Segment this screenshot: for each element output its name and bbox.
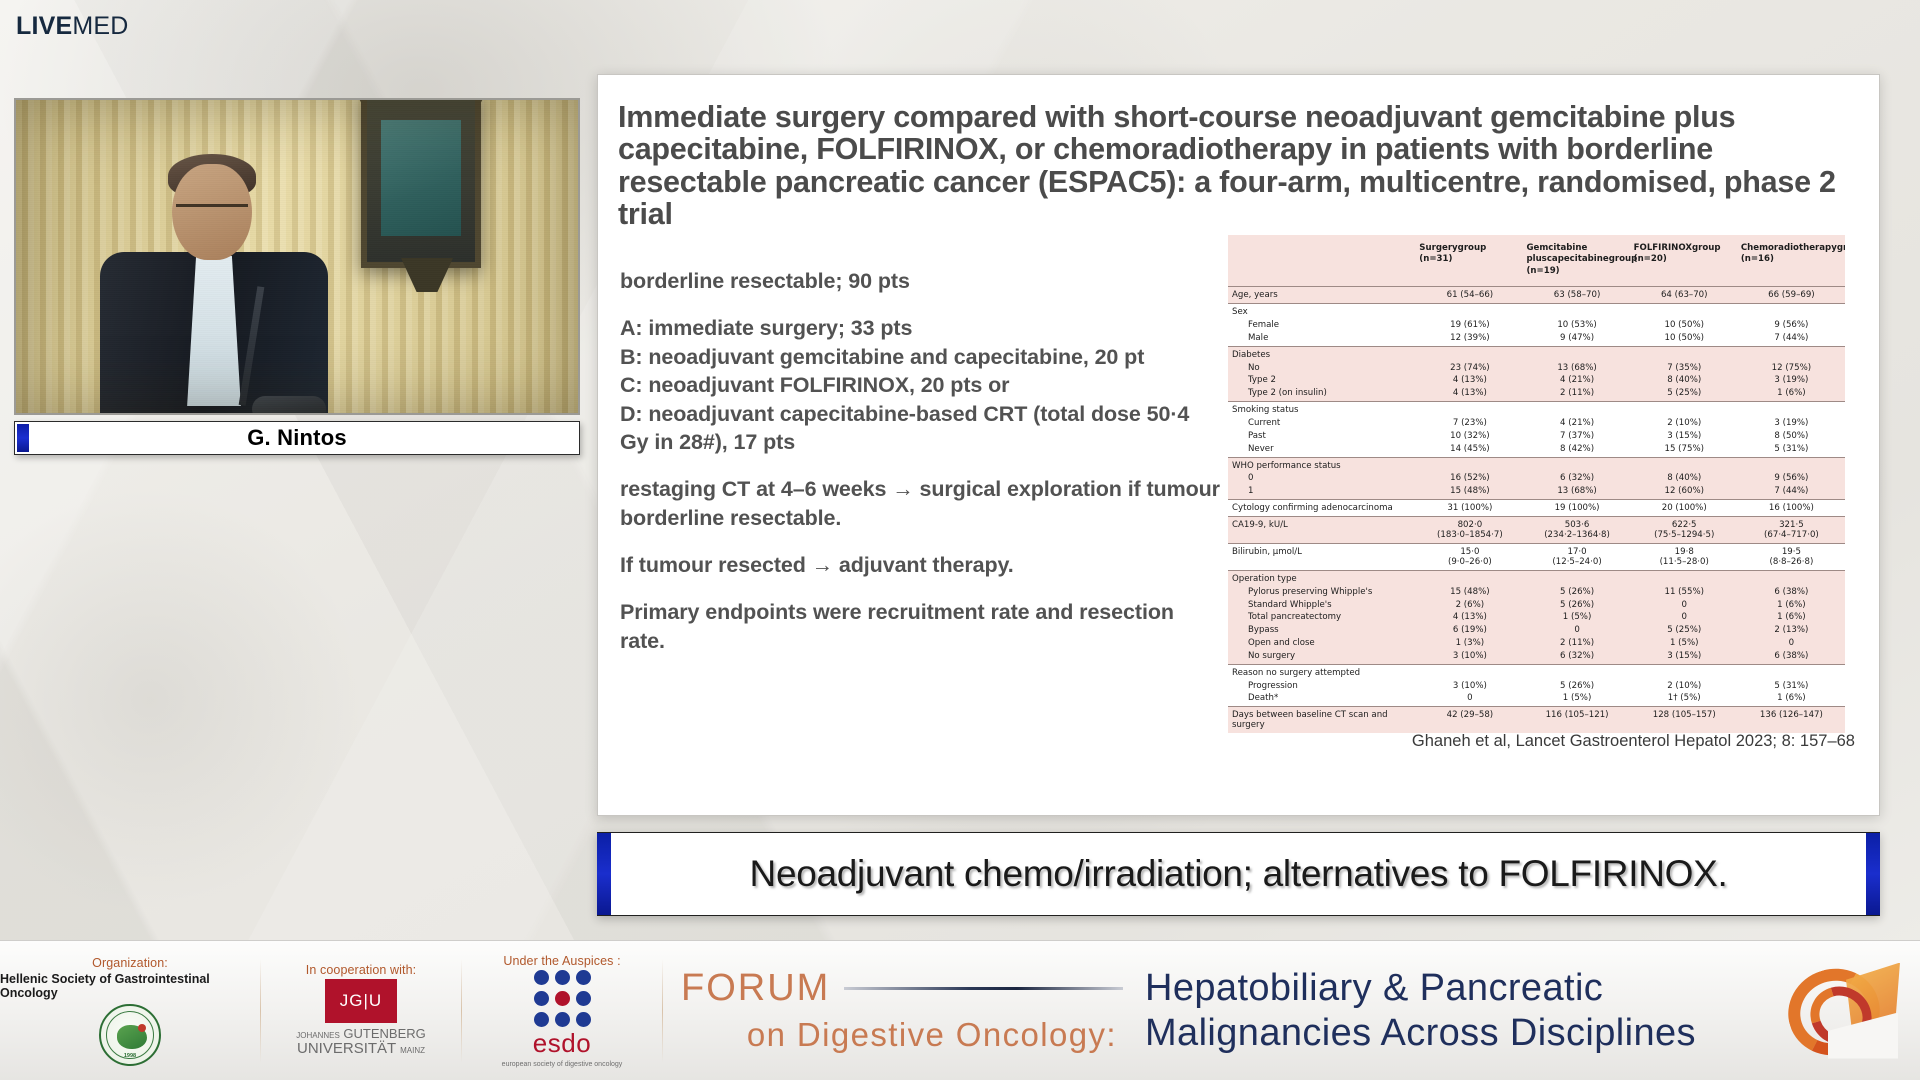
table-cell-col-2: 1 (5%)	[1523, 611, 1630, 624]
table-body: Age, years61 (54–66)63 (58–70)64 (63–70)…	[1228, 287, 1845, 734]
table-cell-col-2	[1523, 571, 1630, 586]
slide-panel: Immediate surgery compared with short-co…	[597, 74, 1880, 816]
table-row-label: Type 2 (on insulin)	[1228, 387, 1416, 402]
table-cell-col-1: 15 (48%)	[1416, 485, 1523, 500]
table-row-label: Pylorus preserving Whipple's	[1228, 585, 1416, 598]
table-cell-col-3: 0	[1631, 611, 1738, 624]
table-cell-col-4: 19·5(8·8–26·8)	[1738, 544, 1845, 571]
table-row-label: Never	[1228, 442, 1416, 457]
table-cell-col-3: 20 (100%)	[1631, 500, 1738, 517]
table-cell-col-1: 14 (45%)	[1416, 442, 1523, 457]
table-cell-col-2: 5 (26%)	[1523, 598, 1630, 611]
forum-wordmark: FORUM	[681, 967, 830, 1010]
table-cell-col-4: 1 (6%)	[1738, 387, 1845, 402]
table-cell-col-3: 622·5(75·5–1294·5)	[1631, 517, 1738, 544]
forum-swirl-icon	[1770, 941, 1920, 1080]
table-cell-col-4	[1738, 346, 1845, 361]
table-row: 016 (52%)6 (32%)8 (40%)9 (56%)	[1228, 472, 1845, 485]
table-header-row: Surgerygroup (n=31)Gemcitabine pluscapec…	[1228, 235, 1845, 287]
table-cell-col-2: 5 (26%)	[1523, 679, 1630, 692]
esdo-dot	[555, 970, 570, 985]
esdo-wordmark: esdo	[533, 1030, 591, 1056]
table-cell-col-3: 3 (15%)	[1631, 429, 1738, 442]
table-cell-col-1: 42 (29–58)	[1416, 707, 1523, 734]
table-header-col-1: Surgerygroup (n=31)	[1416, 235, 1523, 287]
table-cell-col-3: 12 (60%)	[1631, 485, 1738, 500]
table-cell-col-1: 16 (52%)	[1416, 472, 1523, 485]
speaker-video-feed[interactable]	[14, 98, 580, 415]
table-cell-col-4: 1 (6%)	[1738, 692, 1845, 707]
table-cell-col-4: 3 (19%)	[1738, 374, 1845, 387]
table-row-label: Age, years	[1228, 287, 1416, 304]
caption-text: Neoadjuvant chemo/irradiation; alternati…	[750, 853, 1728, 895]
table-cell-col-4: 16 (100%)	[1738, 500, 1845, 517]
table-cell-col-1: 4 (13%)	[1416, 611, 1523, 624]
table-cell-col-4: 6 (38%)	[1738, 649, 1845, 664]
slide-paragraph-2: A: immediate surgery; 33 ptsB: neoadjuva…	[620, 314, 1220, 456]
table-cell-col-3: 8 (40%)	[1631, 472, 1738, 485]
table-row: Sex	[1228, 304, 1845, 319]
esdo-dot	[576, 1012, 591, 1027]
slide-body-text: borderline resectable; 90 ptsA: immediat…	[620, 267, 1220, 655]
table-cell-col-1: 2 (6%)	[1416, 598, 1523, 611]
table-cell-col-3	[1631, 346, 1738, 361]
esdo-dot	[555, 1012, 570, 1027]
table-cell-col-4: 9 (56%)	[1738, 472, 1845, 485]
table-row-label: Standard Whipple's	[1228, 598, 1416, 611]
table-row: Days between baseline CT scan and surger…	[1228, 707, 1845, 734]
table-row-label: Operation type	[1228, 571, 1416, 586]
table-row-label: Reason no surgery attempted	[1228, 664, 1416, 679]
table-cell-col-1: 31 (100%)	[1416, 500, 1523, 517]
table-row: Progression3 (10%)5 (26%)2 (10%)5 (31%)	[1228, 679, 1845, 692]
footer-event-title: Hepatobiliary & Pancreatic Malignancies …	[1123, 966, 1770, 1056]
table-cell-col-3: 15 (75%)	[1631, 442, 1738, 457]
esdo-dot	[534, 970, 549, 985]
table-cell-col-2: 4 (21%)	[1523, 374, 1630, 387]
forum-line-1: FORUM	[681, 967, 1123, 1010]
table-row: Type 24 (13%)4 (21%)8 (40%)3 (19%)	[1228, 374, 1845, 387]
esdo-dot-accent	[555, 991, 570, 1006]
livemed-logo: LIVEMED	[16, 14, 129, 39]
jgu-university-name: JOHANNES GUTENBERG UNIVERSITÄT MAINZ	[296, 1027, 426, 1057]
caption-banner: Neoadjuvant chemo/irradiation; alternati…	[597, 832, 1880, 916]
table-cell-col-2: 9 (47%)	[1523, 331, 1630, 346]
seal-dot-icon	[138, 1024, 146, 1032]
jgu-line-1: JOHANNES GUTENBERG	[296, 1027, 426, 1041]
table-cell-col-2: 13 (68%)	[1523, 361, 1630, 374]
table-cell-col-1: 3 (10%)	[1416, 649, 1523, 664]
esdo-tagline: european society of digestive oncology	[502, 1061, 623, 1068]
table-row: Bilirubin, µmol/L15·0(9·0–26·0)17·0(12·5…	[1228, 544, 1845, 571]
jgu-johannes: JOHANNES	[296, 1031, 340, 1040]
table-header-col-2: Gemcitabine pluscapecitabinegroup (n=19)	[1523, 235, 1630, 287]
table-row: Current7 (23%)4 (21%)2 (10%)3 (19%)	[1228, 417, 1845, 430]
table-cell-col-2: 116 (105–121)	[1523, 707, 1630, 734]
table-cell-col-2: 7 (37%)	[1523, 429, 1630, 442]
table-row: Never14 (45%)8 (42%)15 (75%)5 (31%)	[1228, 442, 1845, 457]
table-cell-col-2: 63 (58–70)	[1523, 287, 1630, 304]
table-cell-col-2: 6 (32%)	[1523, 649, 1630, 664]
table-cell-col-4: 5 (31%)	[1738, 442, 1845, 457]
table-cell-col-1: 4 (13%)	[1416, 387, 1523, 402]
forum-rule	[844, 987, 1123, 990]
table-cell-col-1: 12 (39%)	[1416, 331, 1523, 346]
table-row-label: Current	[1228, 417, 1416, 430]
auspices-caption: Under the Auspices :	[503, 954, 620, 968]
table-row-label: 0	[1228, 472, 1416, 485]
table-row: CA19-9, kU/L802·0(183·0–1854·7)503·6(234…	[1228, 517, 1845, 544]
table-cell-col-3	[1631, 457, 1738, 472]
table-header-col-4: Chemoradiotherapygroup (n=16)	[1738, 235, 1845, 287]
table-cell-col-4: 7 (44%)	[1738, 331, 1845, 346]
table-row: Open and close1 (3%)2 (11%)1 (5%)0	[1228, 637, 1845, 650]
table-row: No23 (74%)13 (68%)7 (35%)12 (75%)	[1228, 361, 1845, 374]
table-cell-col-2	[1523, 664, 1630, 679]
speaker-panel: G. Nintos	[14, 98, 580, 455]
slide-citation: Ghaneh et al, Lancet Gastroenterol Hepat…	[1412, 732, 1855, 751]
table-row: Bypass6 (19%)05 (25%)2 (13%)	[1228, 624, 1845, 637]
table-row-label: Open and close	[1228, 637, 1416, 650]
table-cell-col-2: 13 (68%)	[1523, 485, 1630, 500]
table-cell-col-3: 19·8(11·5–28·0)	[1631, 544, 1738, 571]
table-cell-col-1	[1416, 664, 1523, 679]
jgu-line-2: UNIVERSITÄT MAINZ	[296, 1041, 426, 1057]
table-cell-col-2: 503·6(234·2–1364·8)	[1523, 517, 1630, 544]
table-cell-col-2: 6 (32%)	[1523, 472, 1630, 485]
table-header-blank	[1228, 235, 1416, 287]
table-cell-col-1: 4 (13%)	[1416, 374, 1523, 387]
table-cell-col-2: 2 (11%)	[1523, 637, 1630, 650]
table-cell-col-2: 17·0(12·5–24·0)	[1523, 544, 1630, 571]
table-cell-col-4: 3 (19%)	[1738, 417, 1845, 430]
table-row-label: Type 2	[1228, 374, 1416, 387]
table-row-label: Bypass	[1228, 624, 1416, 637]
table-row-label: Progression	[1228, 679, 1416, 692]
table-header-col-3: FOLFIRINOXgroup (n=20)	[1631, 235, 1738, 287]
table-cell-col-1	[1416, 346, 1523, 361]
table-cell-col-1: 23 (74%)	[1416, 361, 1523, 374]
esdo-dot	[576, 970, 591, 985]
seal-year: 1998	[101, 1053, 159, 1059]
table-row-label: Days between baseline CT scan and surger…	[1228, 707, 1416, 734]
table-row: Age, years61 (54–66)63 (58–70)64 (63–70)…	[1228, 287, 1845, 304]
table-row-label: Smoking status	[1228, 402, 1416, 417]
table-cell-col-1: 15·0(9·0–26·0)	[1416, 544, 1523, 571]
table-cell-col-4: 321·5(67·4–717·0)	[1738, 517, 1845, 544]
table-row-label: Diabetes	[1228, 346, 1416, 361]
table-cell-col-2	[1523, 402, 1630, 417]
table-cell-col-1: 15 (48%)	[1416, 585, 1523, 598]
table-row: Cytology confirming adenocarcinoma31 (10…	[1228, 500, 1845, 517]
table-cell-col-4: 66 (59–69)	[1738, 287, 1845, 304]
slide-paragraph-5: Primary endpoints were recruitment rate …	[620, 598, 1220, 655]
baseline-characteristics-table-figure: Surgerygroup (n=31)Gemcitabine pluscapec…	[1228, 235, 1845, 733]
jgu-mainz: MAINZ	[400, 1046, 425, 1055]
footer-organization-block: Organization: Hellenic Society of Gastro…	[0, 941, 260, 1080]
table-row-label: No surgery	[1228, 649, 1416, 664]
table-cell-col-1: 6 (19%)	[1416, 624, 1523, 637]
table-head: Surgerygroup (n=31)Gemcitabine pluscapec…	[1228, 235, 1845, 287]
table-cell-col-4: 1 (6%)	[1738, 611, 1845, 624]
table-row-label: Sex	[1228, 304, 1416, 319]
jgu-gutenberg: GUTENBERG	[343, 1026, 425, 1041]
table-cell-col-3: 3 (15%)	[1631, 649, 1738, 664]
table-cell-col-2: 8 (42%)	[1523, 442, 1630, 457]
table-row: Standard Whipple's2 (6%)5 (26%)01 (6%)	[1228, 598, 1845, 611]
esdo-dot	[534, 1012, 549, 1027]
baseline-characteristics-table: Surgerygroup (n=31)Gemcitabine pluscapec…	[1228, 235, 1845, 733]
footer-auspices-block: Under the Auspices : esdo european socie…	[462, 941, 662, 1080]
table-cell-col-1: 7 (23%)	[1416, 417, 1523, 430]
table-cell-col-2	[1523, 457, 1630, 472]
table-row-label: Past	[1228, 429, 1416, 442]
esdo-dots-icon	[534, 970, 591, 1027]
table-cell-col-3: 2 (10%)	[1631, 679, 1738, 692]
caption-accent-bar-left	[597, 833, 611, 915]
organization-caption: Organization:	[92, 956, 168, 970]
table-row-label: No	[1228, 361, 1416, 374]
table-cell-col-3: 10 (50%)	[1631, 319, 1738, 332]
table-row-label: Death*	[1228, 692, 1416, 707]
table-cell-col-1: 0	[1416, 692, 1523, 707]
table-cell-col-4: 0	[1738, 637, 1845, 650]
table-row: No surgery3 (10%)6 (32%)3 (15%)6 (38%)	[1228, 649, 1845, 664]
table-cell-col-3: 1† (5%)	[1631, 692, 1738, 707]
table-cell-col-3: 5 (25%)	[1631, 387, 1738, 402]
slide-paragraph-1: borderline resectable; 90 pts	[620, 267, 1220, 295]
table-cell-col-3: 8 (40%)	[1631, 374, 1738, 387]
table-row-label: Total pancreatectomy	[1228, 611, 1416, 624]
table-row-label: WHO performance status	[1228, 457, 1416, 472]
table-cell-col-2: 10 (53%)	[1523, 319, 1630, 332]
footer-bar: Organization: Hellenic Society of Gastro…	[0, 940, 1920, 1080]
table-cell-col-4: 1 (6%)	[1738, 598, 1845, 611]
logo-live-text: LIVE	[16, 12, 72, 40]
jgu-universitat: UNIVERSITÄT	[297, 1040, 396, 1057]
table-row: Pylorus preserving Whipple's15 (48%)5 (2…	[1228, 585, 1845, 598]
table-cell-col-4	[1738, 571, 1845, 586]
event-title-line-2: Malignancies Across Disciplines	[1145, 1011, 1770, 1056]
table-row-label: Female	[1228, 319, 1416, 332]
table-cell-col-4: 12 (75%)	[1738, 361, 1845, 374]
table-cell-col-3: 11 (55%)	[1631, 585, 1738, 598]
hsgo-seal-logo: 1998	[99, 1004, 161, 1066]
esdo-dot	[576, 991, 591, 1006]
esdo-dot	[534, 991, 549, 1006]
table-cell-col-3: 64 (63–70)	[1631, 287, 1738, 304]
slide-paragraph-3: restaging CT at 4–6 weeks → surgical exp…	[620, 475, 1220, 532]
table-row: Type 2 (on insulin)4 (13%)2 (11%)5 (25%)…	[1228, 387, 1845, 402]
table-row: Smoking status	[1228, 402, 1845, 417]
forum-subtitle: on Digestive Oncology:	[681, 1016, 1123, 1054]
speaker-name: G. Nintos	[247, 425, 347, 451]
table-row-label: Male	[1228, 331, 1416, 346]
table-cell-col-2: 2 (11%)	[1523, 387, 1630, 402]
table-cell-col-4	[1738, 304, 1845, 319]
jgu-logo-mark: JG|U	[325, 979, 397, 1023]
table-cell-col-4: 5 (31%)	[1738, 679, 1845, 692]
table-row: Male12 (39%)9 (47%)10 (50%)7 (44%)	[1228, 331, 1845, 346]
table-cell-col-1: 19 (61%)	[1416, 319, 1523, 332]
table-cell-col-3	[1631, 402, 1738, 417]
table-cell-col-1: 1 (3%)	[1416, 637, 1523, 650]
table-cell-col-4: 2 (13%)	[1738, 624, 1845, 637]
slide-title: Immediate surgery compared with short-co…	[618, 101, 1868, 231]
table-cell-col-3: 10 (50%)	[1631, 331, 1738, 346]
table-cell-col-1	[1416, 571, 1523, 586]
table-cell-col-4: 8 (50%)	[1738, 429, 1845, 442]
table-cell-col-1: 3 (10%)	[1416, 679, 1523, 692]
table-cell-col-3	[1631, 571, 1738, 586]
table-row: 115 (48%)13 (68%)12 (60%)7 (44%)	[1228, 485, 1845, 500]
table-cell-col-2: 1 (5%)	[1523, 692, 1630, 707]
table-cell-col-4: 7 (44%)	[1738, 485, 1845, 500]
logo-med-text: MED	[72, 12, 128, 40]
table-cell-col-4	[1738, 664, 1845, 679]
table-row: Reason no surgery attempted	[1228, 664, 1845, 679]
footer-cooperation-block: In cooperation with: JG|U JOHANNES GUTEN…	[261, 941, 461, 1080]
table-row: Total pancreatectomy4 (13%)1 (5%)01 (6%)	[1228, 611, 1845, 624]
nameplate-accent-bar	[17, 424, 29, 452]
table-row-label: CA19-9, kU/L	[1228, 517, 1416, 544]
table-cell-col-1	[1416, 304, 1523, 319]
table-cell-col-4	[1738, 457, 1845, 472]
table-row: Operation type	[1228, 571, 1845, 586]
table-row: Diabetes	[1228, 346, 1845, 361]
footer-forum-block: FORUM on Digestive Oncology:	[663, 967, 1123, 1054]
table-cell-col-1: 10 (32%)	[1416, 429, 1523, 442]
table-cell-col-1	[1416, 457, 1523, 472]
table-cell-col-1	[1416, 402, 1523, 417]
table-cell-col-3: 7 (35%)	[1631, 361, 1738, 374]
video-vignette	[16, 100, 578, 413]
table-cell-col-3: 5 (25%)	[1631, 624, 1738, 637]
table-row-label: 1	[1228, 485, 1416, 500]
table-cell-col-4: 9 (56%)	[1738, 319, 1845, 332]
table-cell-col-2: 4 (21%)	[1523, 417, 1630, 430]
table-cell-col-4: 136 (126–147)	[1738, 707, 1845, 734]
table-cell-col-2: 5 (26%)	[1523, 585, 1630, 598]
table-cell-col-3	[1631, 664, 1738, 679]
table-cell-col-4: 6 (38%)	[1738, 585, 1845, 598]
table-cell-col-2	[1523, 346, 1630, 361]
table-row: Death*01 (5%)1† (5%)1 (6%)	[1228, 692, 1845, 707]
table-cell-col-3	[1631, 304, 1738, 319]
speaker-nameplate: G. Nintos	[14, 421, 580, 455]
slide-paragraph-4: If tumour resected → adjuvant therapy.	[620, 551, 1220, 579]
table-cell-col-2	[1523, 304, 1630, 319]
table-cell-col-3: 1 (5%)	[1631, 637, 1738, 650]
table-cell-col-1: 61 (54–66)	[1416, 287, 1523, 304]
event-title-line-1: Hepatobiliary & Pancreatic	[1145, 966, 1770, 1011]
caption-accent-bar-right	[1866, 833, 1880, 915]
table-cell-col-2: 19 (100%)	[1523, 500, 1630, 517]
table-cell-col-3: 128 (105–157)	[1631, 707, 1738, 734]
table-cell-col-2: 0	[1523, 624, 1630, 637]
table-row: Female19 (61%)10 (53%)10 (50%)9 (56%)	[1228, 319, 1845, 332]
table-cell-col-3: 0	[1631, 598, 1738, 611]
organization-name: Hellenic Society of Gastrointestinal Onc…	[0, 972, 260, 1000]
table-cell-col-4	[1738, 402, 1845, 417]
table-row: Past10 (32%)7 (37%)3 (15%)8 (50%)	[1228, 429, 1845, 442]
table-row-label: Bilirubin, µmol/L	[1228, 544, 1416, 571]
table-row-label: Cytology confirming adenocarcinoma	[1228, 500, 1416, 517]
cooperation-caption: In cooperation with:	[306, 963, 416, 977]
table-row: WHO performance status	[1228, 457, 1845, 472]
table-cell-col-3: 2 (10%)	[1631, 417, 1738, 430]
table-cell-col-1: 802·0(183·0–1854·7)	[1416, 517, 1523, 544]
